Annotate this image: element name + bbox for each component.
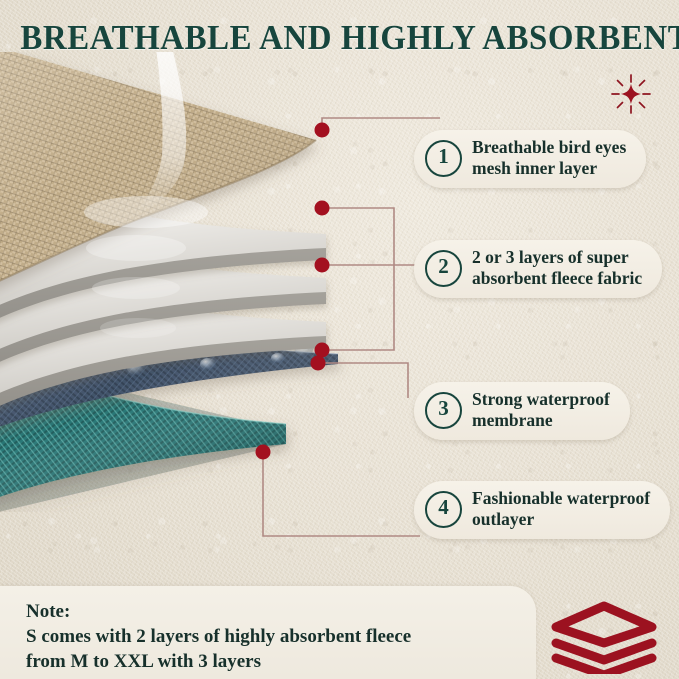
marker-dot-layer-4 xyxy=(256,445,271,460)
callout-layer-2[interactable]: 2 2 or 3 layers of super absorbent fleec… xyxy=(414,240,662,298)
callout-badge-3: 3 xyxy=(425,392,462,429)
note-line-1: S comes with 2 layers of highly absorben… xyxy=(26,624,536,649)
callout-badge-2: 2 xyxy=(425,250,462,287)
callout-text-4: Fashionable waterproof outlayer xyxy=(472,488,650,530)
callout-badge-4: 4 xyxy=(425,491,462,528)
note-line-2: from M to XXL with 3 layers xyxy=(26,649,536,674)
title-container: BREATHABLE AND HIGHLY ABSORBENT xyxy=(0,18,679,58)
marker-dot-layer-2a xyxy=(315,201,330,216)
marker-dot-layer-3 xyxy=(311,356,326,371)
page-title: BREATHABLE AND HIGHLY ABSORBENT xyxy=(20,18,658,58)
callout-leader-lines xyxy=(0,0,679,679)
marker-dot-layer-2b xyxy=(315,258,330,273)
note-heading: Note: xyxy=(26,599,536,624)
callout-layer-3[interactable]: 3 Strong waterproof membrane xyxy=(414,382,630,440)
callout-layer-1[interactable]: 1 Breathable bird eyes mesh inner layer xyxy=(414,130,646,188)
callout-layer-4[interactable]: 4 Fashionable waterproof outlayer xyxy=(414,481,670,539)
callout-text-1: Breathable bird eyes mesh inner layer xyxy=(472,137,626,179)
callout-badge-1: 1 xyxy=(425,140,462,177)
callout-marker-dots xyxy=(256,123,330,460)
marker-dot-layer-2c xyxy=(315,343,330,358)
marker-dot-layer-1 xyxy=(315,123,330,138)
callout-text-3: Strong waterproof membrane xyxy=(472,389,610,431)
note-content: Note: S comes with 2 layers of highly ab… xyxy=(0,586,536,674)
stacked-layers-icon xyxy=(546,596,666,674)
product-infographic: BREATHABLE AND HIGHLY ABSORBENT xyxy=(0,0,679,679)
sparkle-star-icon xyxy=(607,70,655,118)
note-panel: Note: S comes with 2 layers of highly ab… xyxy=(0,586,536,679)
callout-text-2: 2 or 3 layers of super absorbent fleece … xyxy=(472,247,642,289)
